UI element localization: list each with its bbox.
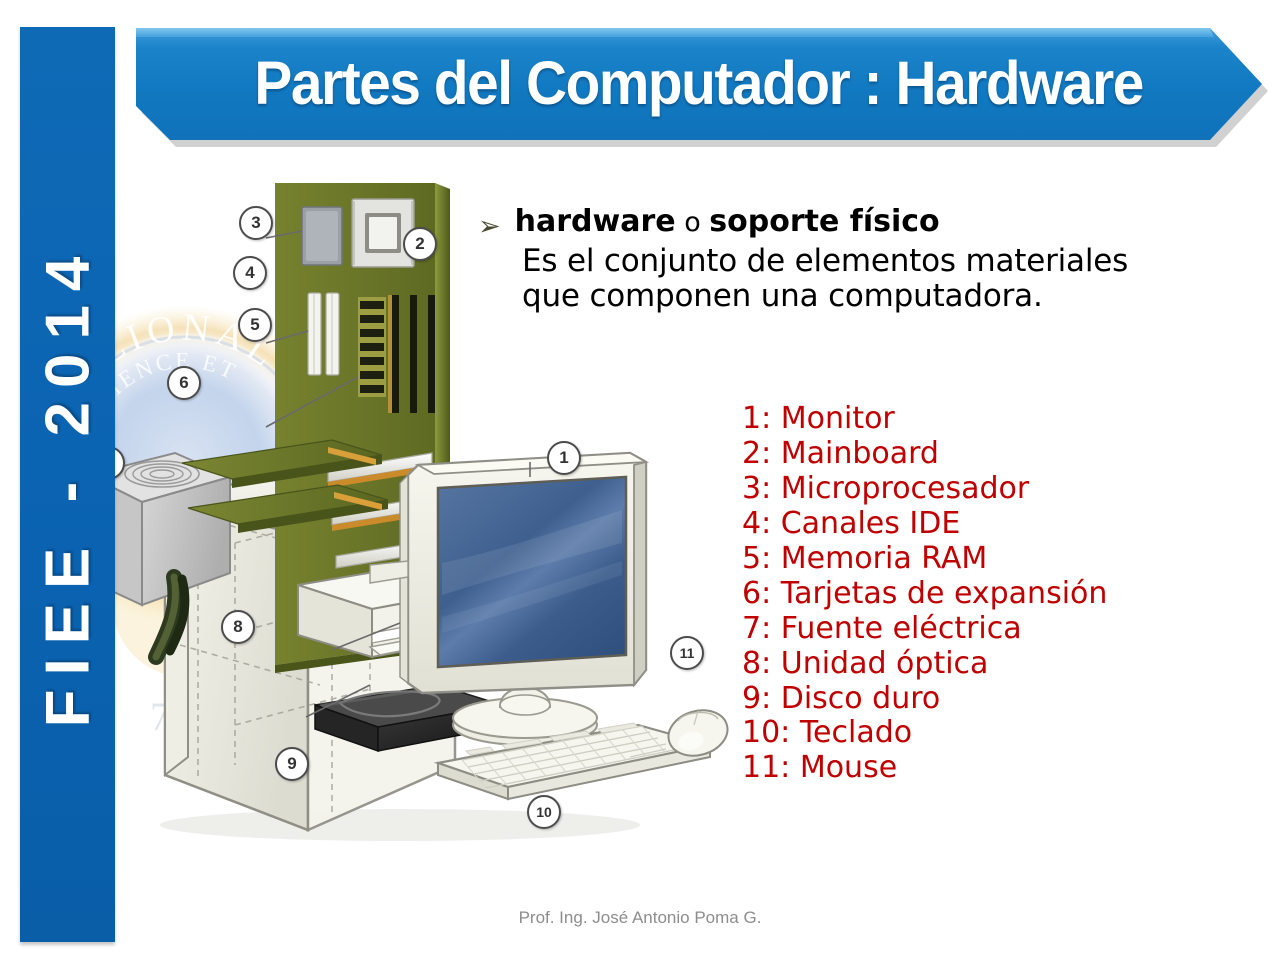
- list-item: 1: Monitor: [742, 402, 1107, 437]
- callout-1: 1: [547, 441, 581, 475]
- bullet-heading: hardware o soporte físico: [515, 205, 940, 240]
- callout-6: 6: [167, 366, 201, 400]
- heading-term-1: hardware: [515, 204, 676, 239]
- callout-5: 5: [238, 308, 272, 342]
- bullet-paragraph: Es el conjunto de elementos materiales q…: [522, 244, 1188, 313]
- callout-2: 2: [403, 227, 437, 261]
- callout-number-5: 5: [238, 308, 272, 342]
- callout-number-3: 3: [239, 206, 273, 240]
- ram-slots: [358, 297, 386, 397]
- heading-term-2: soporte físico: [709, 204, 939, 239]
- callout-11: 11: [670, 636, 704, 670]
- list-item: 3: Microprocesador: [742, 472, 1107, 507]
- callout-number-1: 1: [547, 441, 581, 475]
- callout-number-2: 2: [403, 227, 437, 261]
- list-item: 7: Fuente eléctrica: [742, 612, 1107, 647]
- list-item: 11: Mouse: [742, 751, 1107, 786]
- bullet-arrow-icon: ➢: [478, 213, 501, 240]
- heading-conjunction: o: [676, 207, 710, 238]
- page-title: Partes del Computador : Hardware: [255, 53, 1143, 114]
- callout-8: 8: [221, 610, 255, 644]
- sidebar-year-banner: FIEE - 2014: [20, 27, 115, 942]
- callout-3: 3: [239, 206, 273, 240]
- list-item: 8: Unidad óptica: [742, 647, 1107, 682]
- callout-number-11: 11: [670, 636, 704, 670]
- parts-legend-list: 1: Monitor 2: Mainboard 3: Microprocesad…: [742, 402, 1107, 786]
- callout-number-6: 6: [167, 366, 201, 400]
- list-item: 6: Tarjetas de expansión: [742, 577, 1107, 612]
- callout-number-9: 9: [275, 747, 309, 781]
- list-item: 5: Memoria RAM: [742, 542, 1107, 577]
- list-item: 4: Canales IDE: [742, 507, 1107, 542]
- slide-footer: Prof. Ing. José Antonio Poma G.: [0, 908, 1280, 928]
- title-banner: Partes del Computador : Hardware: [136, 28, 1262, 140]
- list-item: 10: Teclado: [742, 716, 1107, 751]
- callout-4: 4: [233, 256, 267, 290]
- list-item: 2: Mainboard: [742, 437, 1107, 472]
- callout-number-8: 8: [221, 610, 255, 644]
- paragraph-line-2: que componen una computadora.: [522, 278, 1043, 314]
- bullet-heading-row: ➢ hardware o soporte físico: [478, 205, 1188, 240]
- slide-canvas: NACIONAL SCIENCE ET 79: [0, 0, 1280, 960]
- list-item: 9: Disco duro: [742, 682, 1107, 717]
- callout-number-4: 4: [233, 256, 267, 290]
- banner-highlight: [136, 28, 1262, 37]
- body-text-block: ➢ hardware o soporte físico Es el conjun…: [478, 205, 1188, 313]
- callout-10: 10: [527, 795, 561, 829]
- callout-number-10: 10: [527, 795, 561, 829]
- callout-9: 9: [275, 747, 309, 781]
- banner-shape: Partes del Computador : Hardware: [136, 28, 1262, 140]
- sidebar-label: FIEE - 2014: [32, 242, 103, 727]
- paragraph-line-1: Es el conjunto de elementos materiales: [522, 243, 1128, 279]
